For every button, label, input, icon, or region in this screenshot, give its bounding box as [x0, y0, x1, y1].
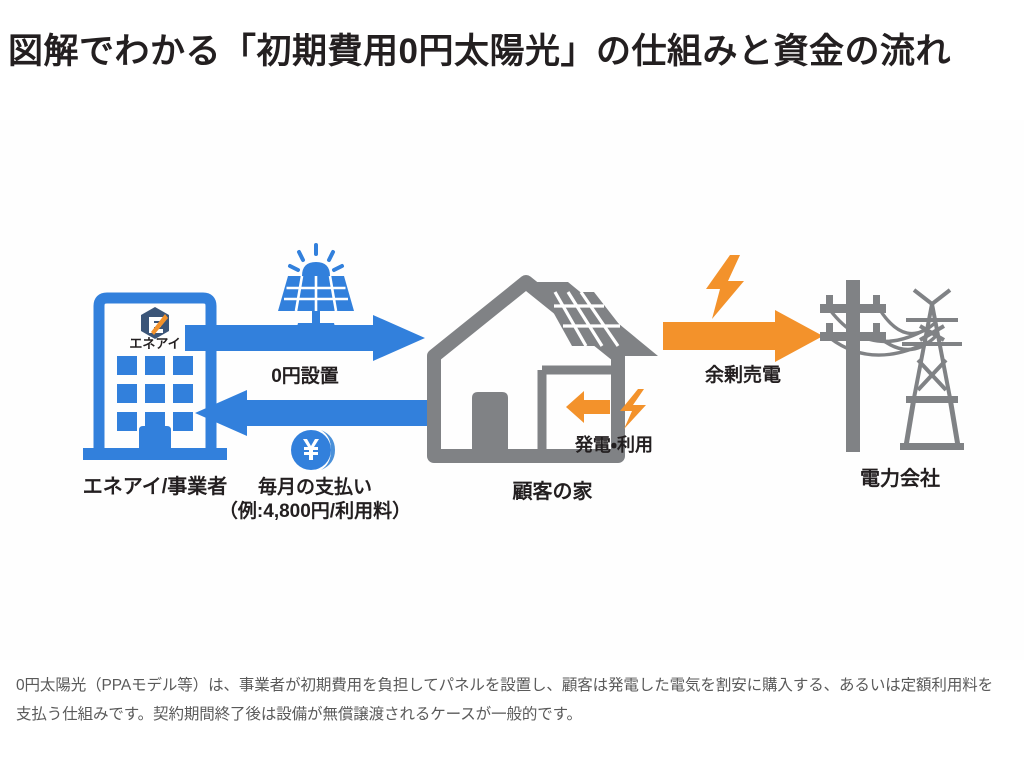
- flow-payment-label-line2: （例:4,800円/利用料）: [205, 500, 425, 524]
- flow-arrow-install[interactable]: 0円設置: [185, 315, 425, 361]
- flow-install-label: 0円設置: [185, 361, 425, 388]
- node-customer-house[interactable]: 発電・利用 顧客の家: [420, 270, 685, 470]
- flow-monthly-payment-caption: 毎月の支払い （例:4,800円/利用料）: [205, 426, 425, 525]
- diagram-canvas: エネアイ エネアイ/事業者: [0, 120, 1024, 660]
- orange-left-arrow-icon: [566, 391, 610, 423]
- utility-pole-and-transmission-tower-icon: [810, 270, 990, 465]
- right-arrow-icon: [663, 310, 823, 362]
- node-power-company[interactable]: 電力会社: [810, 270, 990, 465]
- footer-caption: 0円太陽光（PPAモデル等）は、事業者が初期費用を負担してパネルを設置し、顧客は…: [16, 672, 1006, 729]
- node-customer-house-label: 顧客の家: [420, 475, 685, 504]
- flow-payment-label-line1: 毎月の支払い: [205, 476, 425, 500]
- right-arrow-icon: [185, 315, 425, 361]
- enerai-logo-icon: [141, 307, 169, 339]
- page-header: 図解でわかる「初期費用0円太陽光」の仕組みと資金の流れ: [0, 0, 1024, 96]
- house-generation-usage-callout: 発電・利用: [558, 388, 670, 457]
- node-power-company-label: 電力会社: [810, 462, 990, 491]
- page-title: 図解でわかる「初期費用0円太陽光」の仕組みと資金の流れ: [8, 23, 951, 74]
- yen-coins-icon: [287, 426, 343, 474]
- house-inner-label: 発電・利用: [558, 431, 670, 457]
- generation-usage-icons: [566, 388, 662, 430]
- orange-lightning-bolt-icon: [620, 389, 646, 429]
- flow-arrow-surplus-sale[interactable]: 余剰売電: [663, 310, 823, 362]
- svg-text:エネアイ: エネアイ: [129, 336, 180, 351]
- flow-surplus-sale-label: 余剰売電: [663, 360, 823, 387]
